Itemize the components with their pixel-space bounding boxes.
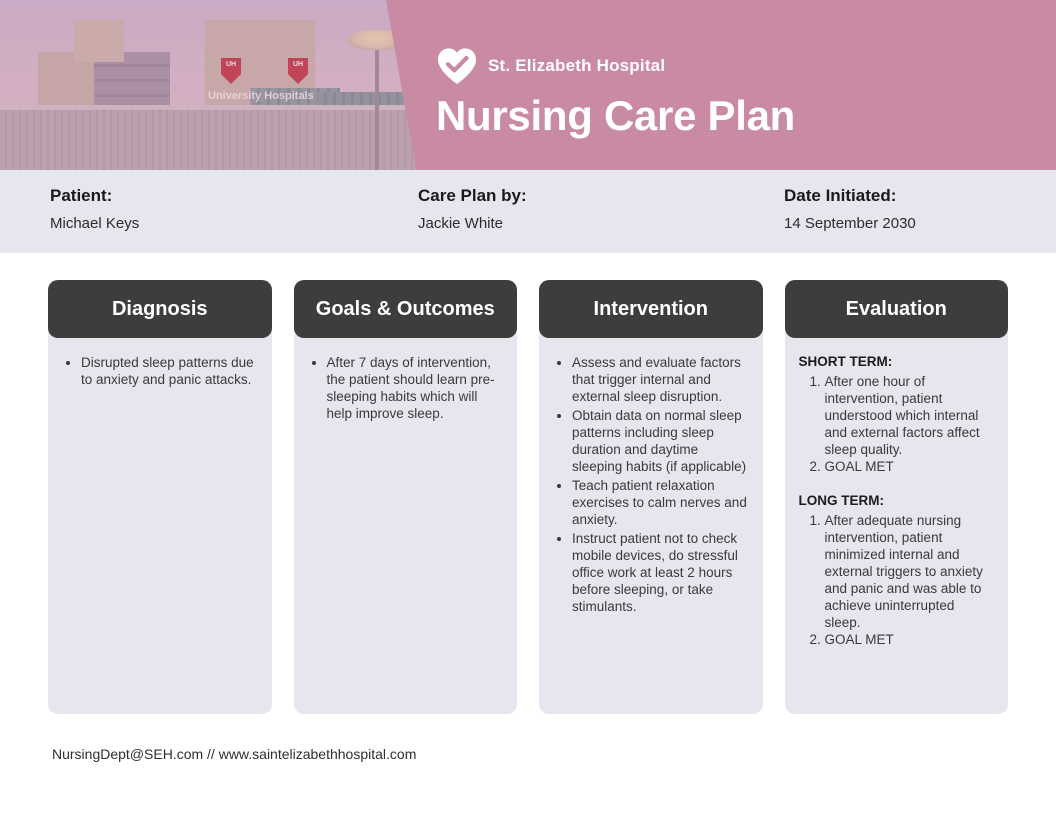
- column-goals-outcomes: Goals & Outcomes After 7 days of interve…: [294, 280, 518, 714]
- column-evaluation: Evaluation SHORT TERM: After one hour of…: [785, 280, 1009, 714]
- hospital-name: St. Elizabeth Hospital: [488, 56, 665, 76]
- heart-check-icon: [436, 47, 478, 85]
- info-value: 14 September 2030: [784, 215, 916, 232]
- list-item: After one hour of intervention, patient …: [825, 373, 995, 458]
- info-label: Date Initiated:: [784, 186, 916, 206]
- header-banner: University Hospitals St. Elizabeth Hospi…: [0, 0, 1056, 170]
- brand-row: St. Elizabeth Hospital: [436, 47, 665, 85]
- column-body-goals-outcomes: After 7 days of intervention, the patien…: [294, 330, 518, 714]
- list-item: After adequate nursing intervention, pat…: [825, 512, 995, 631]
- footer-contact: NursingDept@SEH.com // www.saintelizabet…: [52, 746, 416, 762]
- short-term-label: SHORT TERM:: [799, 354, 995, 369]
- column-intervention: Intervention Assess and evaluate factors…: [539, 280, 763, 714]
- info-field-patient: Patient: Michael Keys: [50, 186, 139, 232]
- bullet-list: Disrupted sleep patterns due to anxiety …: [62, 354, 258, 388]
- hospital-photo: University Hospitals: [0, 0, 430, 170]
- list-item: Obtain data on normal sleep patterns inc…: [572, 407, 749, 475]
- column-header-goals-outcomes: Goals & Outcomes: [294, 280, 518, 338]
- list-item: After 7 days of intervention, the patien…: [327, 354, 504, 422]
- info-value: Michael Keys: [50, 215, 139, 232]
- column-body-diagnosis: Disrupted sleep patterns due to anxiety …: [48, 330, 272, 714]
- info-field-care-plan-by: Care Plan by: Jackie White: [418, 186, 527, 232]
- info-value: Jackie White: [418, 215, 527, 232]
- column-diagnosis: Diagnosis Disrupted sleep patterns due t…: [48, 280, 272, 714]
- column-body-evaluation: SHORT TERM: After one hour of interventi…: [785, 330, 1009, 714]
- list-item: Assess and evaluate factors that trigger…: [572, 354, 749, 405]
- info-label: Care Plan by:: [418, 186, 527, 206]
- info-field-date-initiated: Date Initiated: 14 September 2030: [784, 186, 916, 232]
- list-item: Disrupted sleep patterns due to anxiety …: [81, 354, 258, 388]
- list-item: Teach patient relaxation exercises to ca…: [572, 477, 749, 528]
- list-item: Instruct patient not to check mobile dev…: [572, 530, 749, 615]
- list-item: GOAL MET: [825, 458, 995, 475]
- column-header-diagnosis: Diagnosis: [48, 280, 272, 338]
- bullet-list: After 7 days of intervention, the patien…: [308, 354, 504, 422]
- short-term-list: After one hour of intervention, patient …: [799, 373, 995, 475]
- long-term-label: LONG TERM:: [799, 493, 995, 508]
- column-header-intervention: Intervention: [539, 280, 763, 338]
- long-term-list: After adequate nursing intervention, pat…: [799, 512, 995, 648]
- page-title: Nursing Care Plan: [436, 92, 795, 140]
- photo-pink-overlay: [0, 0, 430, 170]
- column-body-intervention: Assess and evaluate factors that trigger…: [539, 330, 763, 714]
- column-header-evaluation: Evaluation: [785, 280, 1009, 338]
- patient-info-bar: Patient: Michael Keys Care Plan by: Jack…: [0, 170, 1056, 253]
- info-label: Patient:: [50, 186, 139, 206]
- care-plan-columns: Diagnosis Disrupted sleep patterns due t…: [48, 280, 1008, 714]
- list-item: GOAL MET: [825, 631, 995, 648]
- bullet-list: Assess and evaluate factors that trigger…: [553, 354, 749, 615]
